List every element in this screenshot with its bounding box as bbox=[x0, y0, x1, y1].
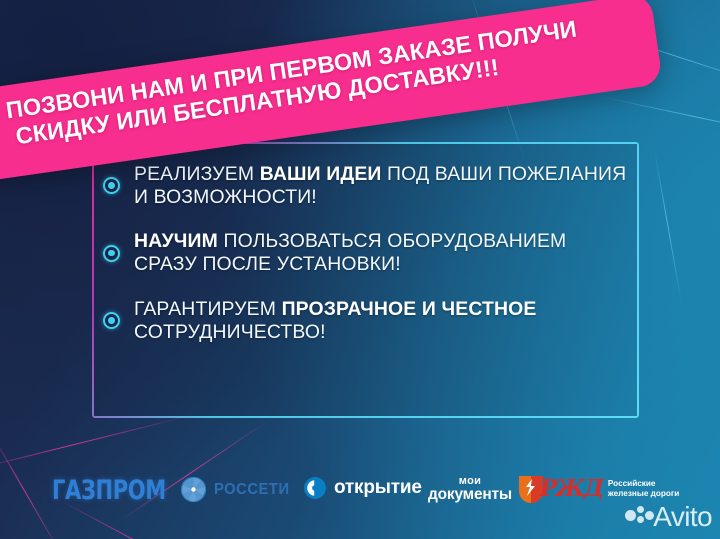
benefit-text-1: РЕАЛИЗУЕМ ВАШИ ИДЕИ ПОД ВАШИ ПОЖЕЛАНИЯ И… bbox=[134, 163, 629, 208]
logo-gazprom-label: ГАЗПРОМ bbox=[52, 475, 166, 506]
avito-watermark: Avito bbox=[625, 501, 712, 533]
logo-moi-dokumenty: мои документы bbox=[428, 474, 545, 504]
logo-rosseti-label: РОССЕТИ bbox=[214, 481, 290, 499]
poster-canvas: ПОЗВОНИ НАМ И ПРИ ПЕРВОМ ЗАКАЗЕ ПОЛУЧИ С… bbox=[0, 0, 720, 539]
logo-rosseti: РОССЕТИ bbox=[180, 476, 296, 503]
avito-watermark-label: Avito bbox=[653, 501, 712, 533]
benefit-text-2: НАУЧИМ ПОЛЬЗОВАТЬСЯ ОБОРУДОВАНИЕМ СРАЗУ … bbox=[134, 230, 629, 275]
promo-banner-text: ПОЗВОНИ НАМ И ПРИ ПЕРВОМ ЗАКАЗЕ ПОЛУЧИ С… bbox=[4, 7, 643, 152]
logo-rzd-sublabel: Российские железные дороги bbox=[608, 479, 679, 499]
decor-line-cyan-2 bbox=[600, 96, 720, 143]
list-item: РЕАЛИЗУЕМ ВАШИ ИДЕИ ПОД ВАШИ ПОЖЕЛАНИЯ И… bbox=[103, 163, 629, 208]
logo-otkrytie: открытие bbox=[303, 476, 422, 500]
list-item: ГАРАНТИРУЕМ ПРОЗРАЧНОЕ И ЧЕСТНОЕ СОТРУДН… bbox=[103, 298, 629, 343]
ring-dot-icon bbox=[103, 177, 120, 194]
ring-dot-icon bbox=[103, 245, 120, 262]
benefit-text-3: ГАРАНТИРУЕМ ПРОЗРАЧНОЕ И ЧЕСТНОЕ СОТРУДН… bbox=[134, 298, 629, 343]
partner-logo-strip: ГАЗПРОМ РОССЕТИ bbox=[0, 470, 720, 512]
decor-line-cyan-4 bbox=[654, 150, 683, 308]
logo-gazprom: ГАЗПРОМ bbox=[52, 475, 198, 506]
decor-line-magenta-1 bbox=[0, 414, 193, 471]
benefits-box: РЕАЛИЗУЕМ ВАШИ ИДЕИ ПОД ВАШИ ПОЖЕЛАНИЯ И… bbox=[93, 143, 637, 416]
logo-rzd-mark: РЖД bbox=[540, 475, 602, 502]
logo-moi-dokumenty-label: мои документы bbox=[428, 476, 512, 503]
list-item: НАУЧИМ ПОЛЬЗОВАТЬСЯ ОБОРУДОВАНИЕМ СРАЗУ … bbox=[103, 230, 629, 275]
ring-dot-icon bbox=[103, 312, 120, 329]
logo-rzd: РЖД Российские железные дороги bbox=[540, 475, 679, 502]
avito-dots-icon bbox=[625, 506, 651, 528]
rosseti-fan-icon bbox=[180, 476, 207, 503]
otkrytie-circle-icon bbox=[303, 476, 327, 500]
benefits-list: РЕАЛИЗУЕМ ВАШИ ИДЕИ ПОД ВАШИ ПОЖЕЛАНИЯ И… bbox=[103, 163, 629, 343]
logo-otkrytie-label: открытие bbox=[334, 477, 422, 499]
